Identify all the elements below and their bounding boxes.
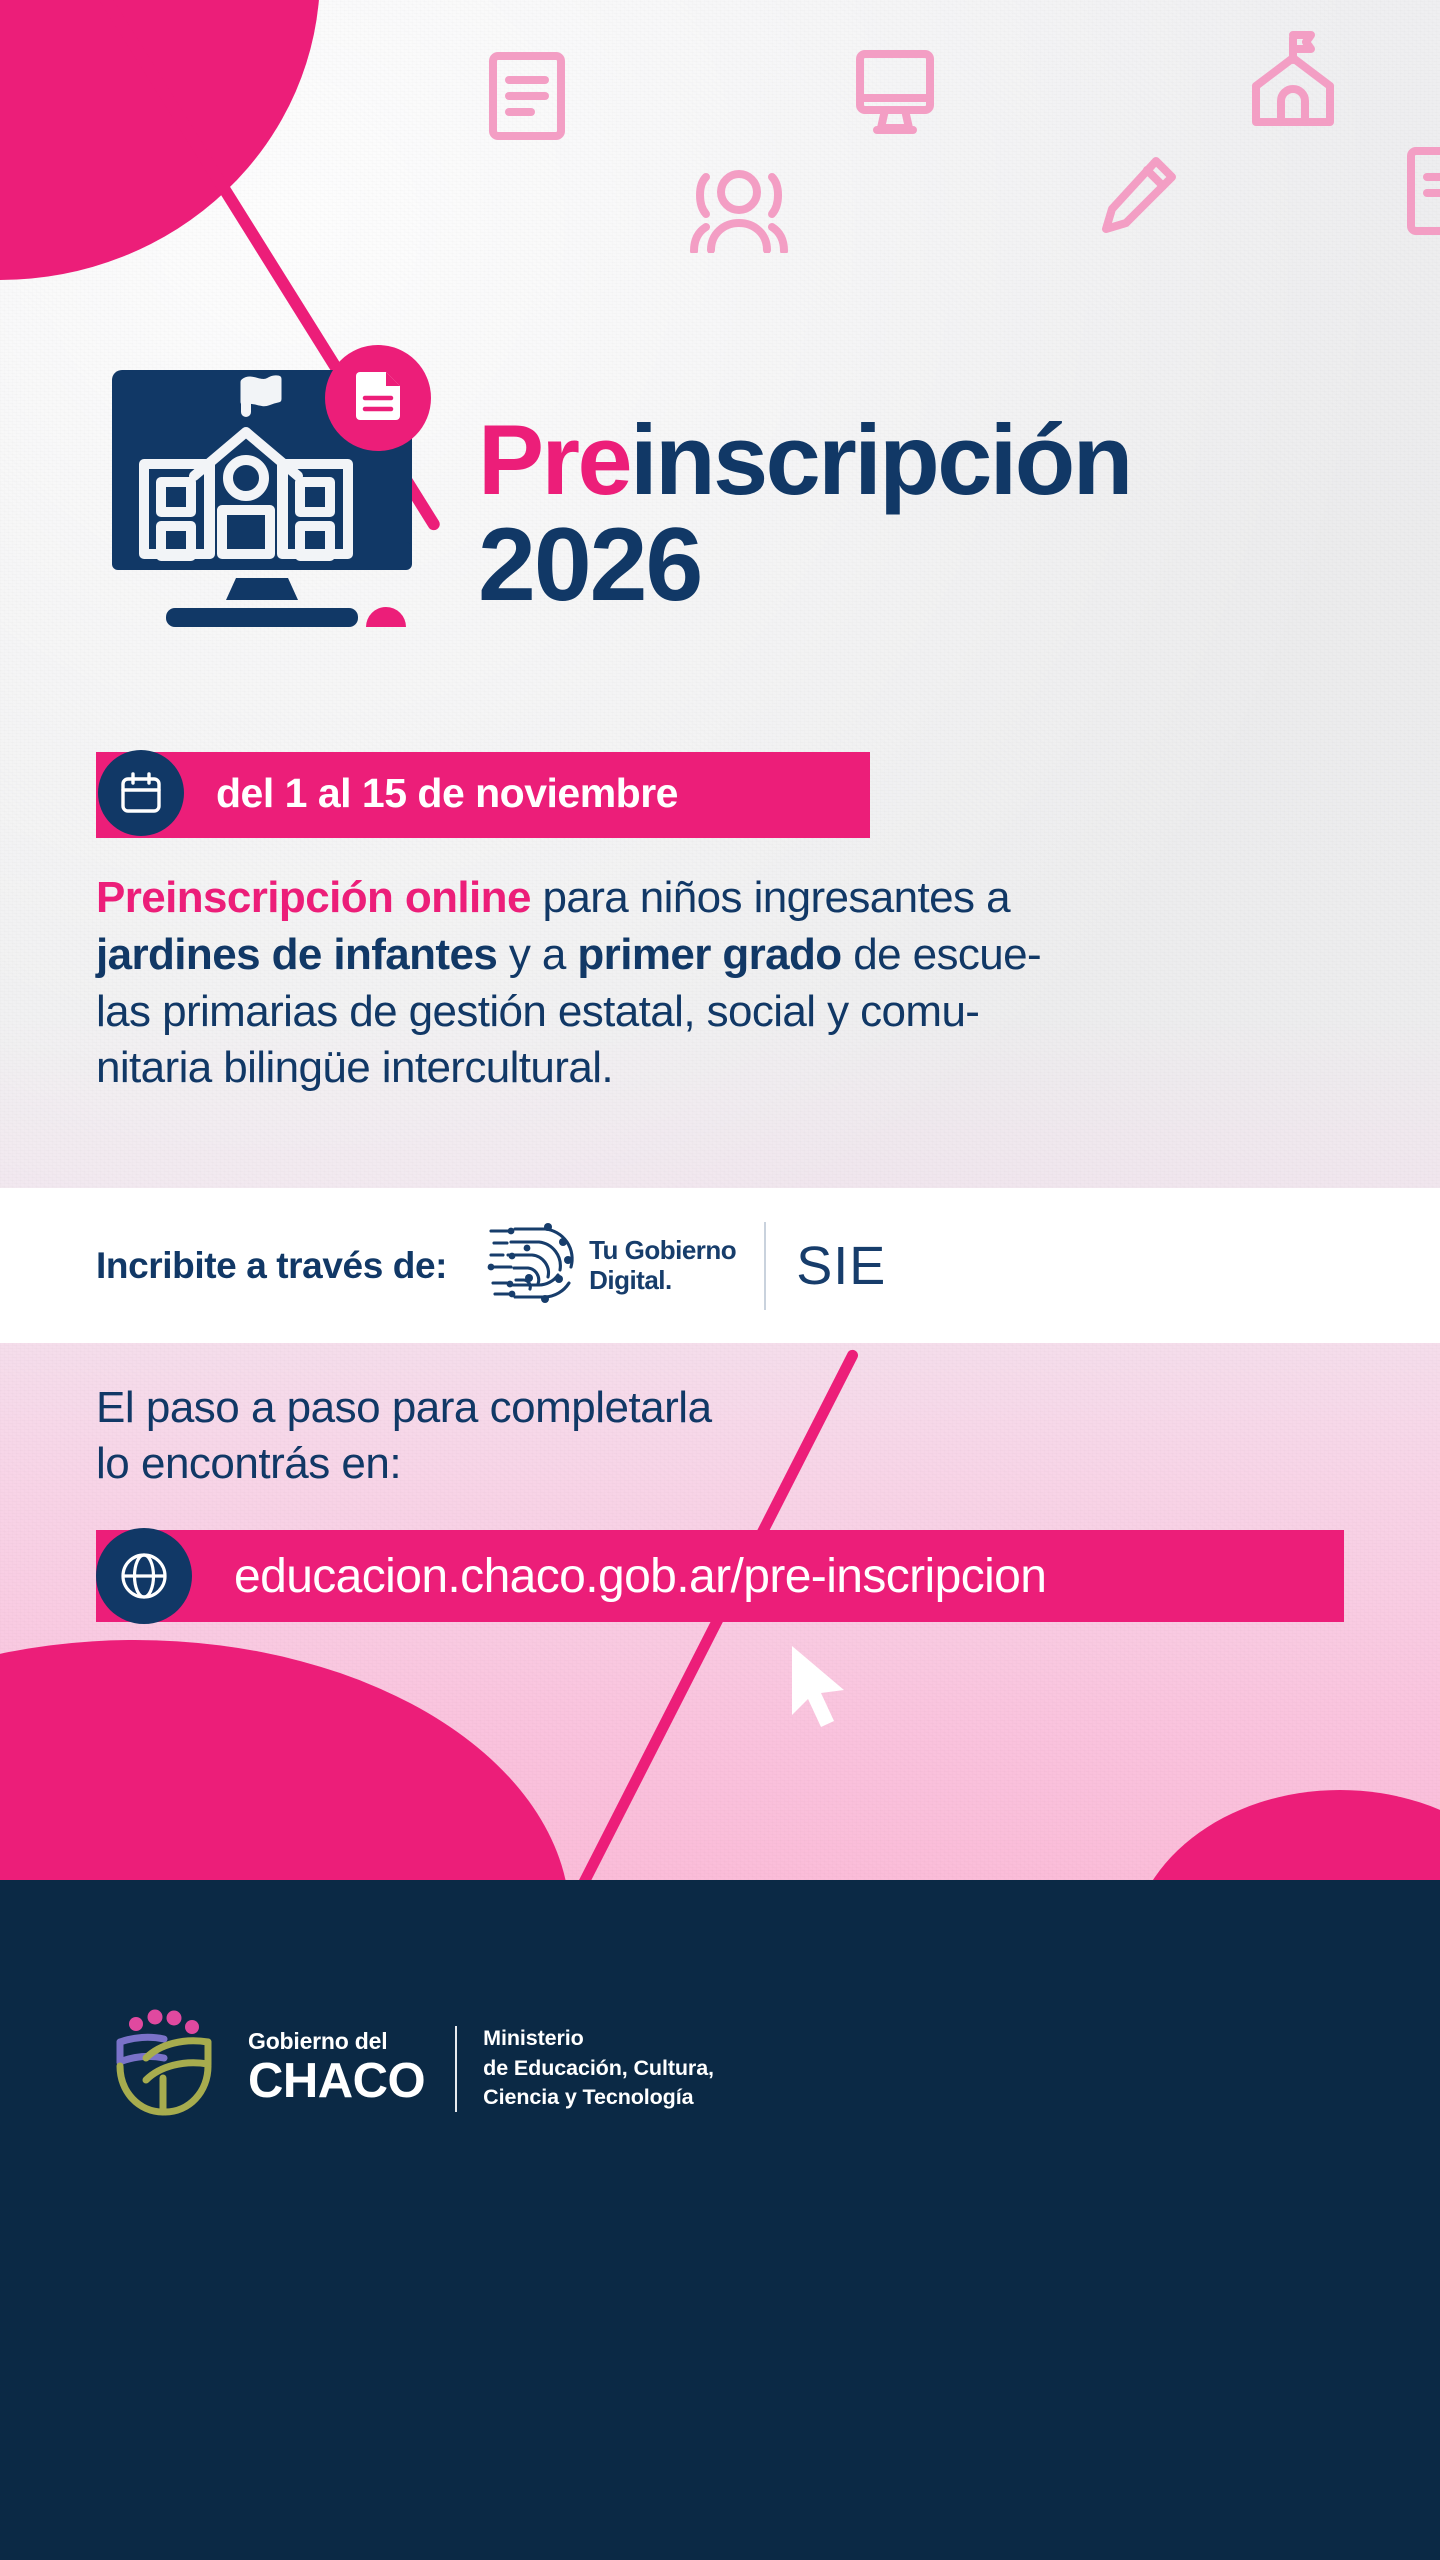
ministry-line3: Ciencia y Tecnología	[483, 2083, 714, 2113]
steps-text: El paso a paso para completarla lo encon…	[96, 1380, 712, 1493]
ministry-line2: de Educación, Cultura,	[483, 2054, 714, 2084]
footer-divider	[455, 2026, 457, 2112]
poster-background: Preinscripción 2026 del 1 al 15 de novie…	[0, 0, 1440, 1880]
school-building-icon	[1250, 28, 1336, 128]
enroll-strip: Incribite a través de:	[0, 1188, 1440, 1343]
ministry-line1: Ministerio	[483, 2024, 714, 2054]
pencil-icon	[1100, 155, 1178, 237]
body-line2-bold-b: primer grado	[577, 930, 841, 979]
body-line4: nitaria bilingüe intercultural.	[96, 1043, 613, 1092]
tgd-line2: Digital.	[589, 1266, 736, 1295]
enroll-strip-label: Incribite a través de:	[96, 1245, 447, 1287]
ministry-text: Ministerio de Educación, Cultura, Cienci…	[483, 2024, 714, 2113]
document-icon-right	[1405, 145, 1440, 237]
tu-gobierno-digital-text: Tu Gobierno Digital.	[589, 1236, 736, 1294]
body-line2-bold-a: jardines de infantes	[96, 930, 497, 979]
school-on-monitor-logo	[88, 330, 468, 650]
decor-blob-top-left	[0, 0, 320, 280]
body-line3: las primarias de gestión estatal, social…	[96, 987, 979, 1036]
mouse-cursor	[780, 1640, 860, 1741]
sie-logo[interactable]: SIE	[796, 1235, 886, 1297]
steps-line2: lo encontrás en:	[96, 1436, 712, 1492]
tu-gobierno-digital-mark	[481, 1215, 577, 1316]
globe-icon	[96, 1528, 192, 1624]
date-badge: del 1 al 15 de noviembre	[98, 750, 678, 836]
strip-divider	[764, 1222, 766, 1310]
body-highlight: Preinscripción online	[96, 873, 531, 922]
decor-blob-bottom-left	[0, 1640, 570, 1880]
url-banner[interactable]: educacion.chaco.gob.ar/pre-inscripcion	[96, 1528, 1046, 1624]
body-line2-reg: y a	[497, 930, 577, 979]
tgd-line1: Tu Gobierno	[589, 1236, 736, 1265]
title-pre: Pre	[478, 404, 630, 515]
tu-gobierno-digital-logo[interactable]: Tu Gobierno Digital.	[481, 1215, 736, 1316]
date-badge-text: del 1 al 15 de noviembre	[216, 770, 678, 817]
footer-content: Gobierno del CHACO Ministerio de Educaci…	[104, 2008, 714, 2129]
title-year: 2026	[478, 513, 1131, 617]
chaco-sup: Gobierno del	[248, 2030, 425, 2053]
hero-section: Preinscripción 2026	[0, 330, 1440, 650]
people-group-icon	[684, 165, 794, 253]
url-text[interactable]: educacion.chaco.gob.ar/pre-inscripcion	[234, 1549, 1046, 1604]
footer: Gobierno del CHACO Ministerio de Educaci…	[0, 1880, 1440, 2560]
poster-root: Preinscripción 2026 del 1 al 15 de novie…	[0, 0, 1440, 2560]
decor-blob-bottom-right	[1130, 1790, 1440, 1880]
body-line1-rest: para niños ingresantes a	[531, 873, 1010, 922]
body-line2-tail: de escue-	[842, 930, 1041, 979]
body-paragraph: Preinscripción online para niños ingresa…	[96, 870, 1386, 1097]
gobierno-chaco-logo	[104, 2008, 222, 2129]
chaco-name: CHACO	[248, 2056, 425, 2107]
poster-title: Preinscripción 2026	[478, 412, 1131, 617]
title-rest: inscripción	[630, 404, 1131, 515]
gobierno-chaco-text: Gobierno del CHACO	[248, 2030, 425, 2107]
document-icon	[487, 50, 567, 142]
steps-line1: El paso a paso para completarla	[96, 1380, 712, 1436]
calendar-icon	[98, 750, 184, 836]
monitor-icon	[855, 48, 935, 136]
